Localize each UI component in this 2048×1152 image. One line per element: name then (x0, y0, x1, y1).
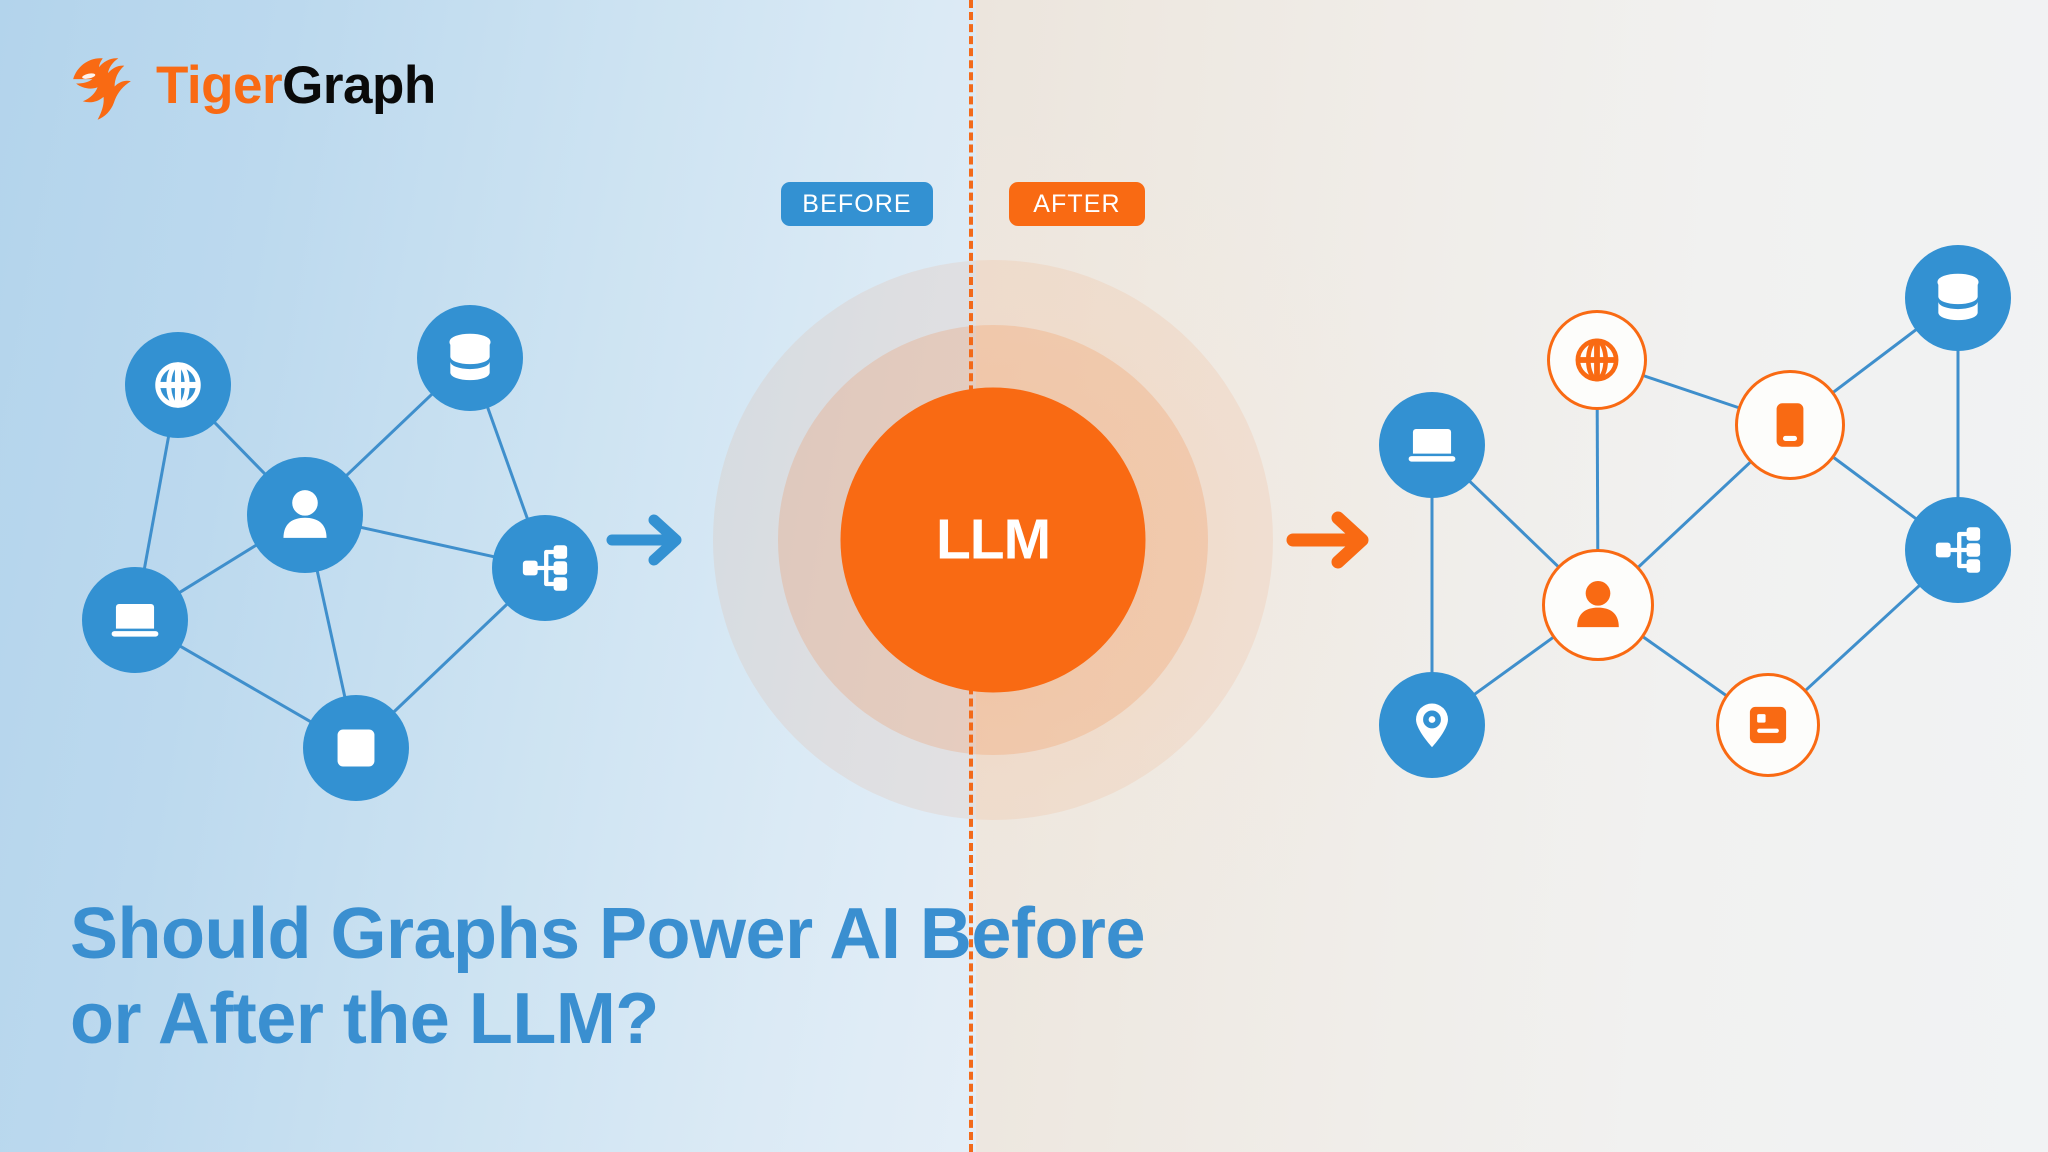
mobile-phone-icon (1777, 403, 1804, 446)
tigergraph-logo[interactable]: TigerGraph (68, 48, 436, 122)
logo-wordmark: TigerGraph (156, 59, 436, 112)
badge-after[interactable]: AFTER (1009, 182, 1145, 226)
graph-node-mobile-phone[interactable] (1737, 372, 1844, 479)
page-title: Should Graphs Power AI Before or After t… (70, 892, 1170, 1062)
logo-word-graph: Graph (282, 56, 436, 115)
llm-core-circle: LLM (841, 388, 1146, 693)
graph-node-laptop[interactable] (1379, 392, 1485, 498)
llm-center-group: LLM (713, 260, 1273, 820)
headline-line-1: Should Graphs Power AI Before (70, 892, 1170, 977)
graph-node-person[interactable] (247, 457, 363, 573)
graph-node-sitemap[interactable] (1905, 497, 2011, 603)
database-icon (450, 335, 489, 380)
graph-node-database[interactable] (417, 305, 523, 411)
globe-icon (158, 365, 199, 406)
llm-label: LLM (936, 512, 1050, 569)
tiger-head-icon (68, 48, 142, 122)
graph-node-laptop[interactable] (82, 567, 188, 673)
id-card-icon (1750, 707, 1786, 743)
infographic-canvas: TigerGraph BEFORE AFTER LLM Should Graph… (0, 0, 2048, 1152)
globe-icon (1578, 341, 1616, 379)
laptop-icon (1409, 429, 1456, 462)
laptop-icon (112, 604, 159, 637)
graph-node-database[interactable] (1905, 245, 2011, 351)
headline-line-2: or After the LLM? (70, 977, 1170, 1062)
graph-node-id-card[interactable] (303, 695, 409, 801)
graph-node-location-pin[interactable] (1379, 672, 1485, 778)
database-icon (1938, 275, 1977, 320)
graph-node-id-card[interactable] (1718, 675, 1819, 776)
graph-node-person[interactable] (1544, 551, 1653, 660)
graph-node-globe[interactable] (125, 332, 231, 438)
id-card-icon (338, 730, 375, 767)
badge-before[interactable]: BEFORE (781, 182, 933, 226)
graph-node-globe[interactable] (1549, 312, 1646, 409)
graph-node-sitemap[interactable] (492, 515, 598, 621)
logo-word-tiger: Tiger (156, 56, 282, 115)
